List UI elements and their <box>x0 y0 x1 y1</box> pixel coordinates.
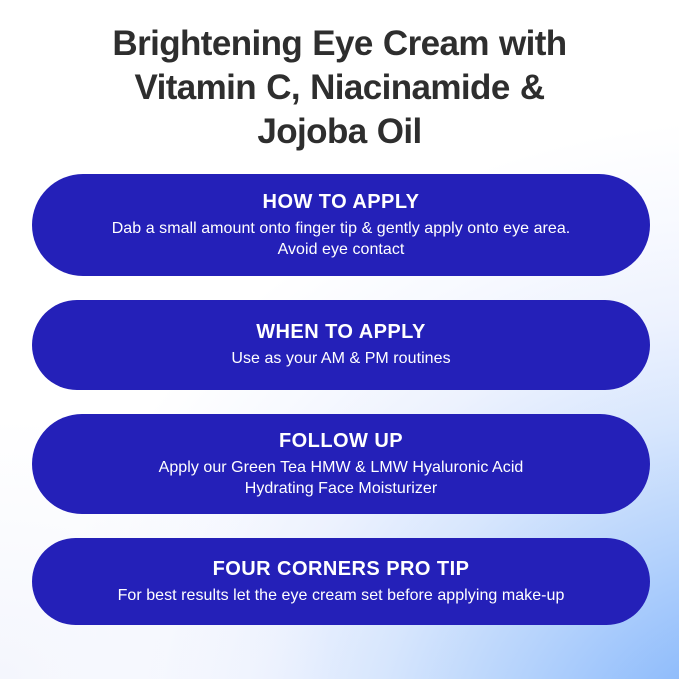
section-body-line: Hydrating Face Moisturizer <box>245 480 437 497</box>
section-pill-follow-up: FOLLOW UP Apply our Green Tea HMW & LMW … <box>32 414 650 514</box>
section-pill-four-corners-pro-tip: FOUR CORNERS PRO TIP For best results le… <box>32 538 650 625</box>
page-title-line-3: Jojoba Oil <box>257 112 421 151</box>
page-title: Brightening Eye Cream with Vitamin C, Ni… <box>46 22 633 154</box>
page-title-line-2: Vitamin C, Niacinamide & <box>134 68 544 107</box>
section-body-how-to-apply: Dab a small amount onto finger tip & gen… <box>112 218 571 261</box>
section-pill-when-to-apply: WHEN TO APPLY Use as your AM & PM routin… <box>32 300 650 390</box>
section-heading-four-corners-pro-tip: FOUR CORNERS PRO TIP <box>213 557 470 582</box>
section-body-four-corners-pro-tip: For best results let the eye cream set b… <box>118 585 565 606</box>
section-body-line: For best results let the eye cream set b… <box>118 587 565 604</box>
section-body-when-to-apply: Use as your AM & PM routines <box>231 348 450 369</box>
section-heading-when-to-apply: WHEN TO APPLY <box>256 320 426 345</box>
section-pill-how-to-apply: HOW TO APPLY Dab a small amount onto fin… <box>32 174 650 276</box>
title-block: Brightening Eye Cream with Vitamin C, Ni… <box>0 22 679 154</box>
section-body-follow-up: Apply our Green Tea HMW & LMW Hyaluronic… <box>159 457 524 500</box>
section-heading-follow-up: FOLLOW UP <box>279 429 403 454</box>
section-heading-how-to-apply: HOW TO APPLY <box>263 190 420 215</box>
infographic-canvas: Brightening Eye Cream with Vitamin C, Ni… <box>0 0 679 679</box>
section-body-line: Avoid eye contact <box>278 241 405 258</box>
section-body-line: Dab a small amount onto finger tip & gen… <box>112 220 571 237</box>
page-title-line-1: Brightening Eye Cream with <box>112 24 566 63</box>
section-body-line: Apply our Green Tea HMW & LMW Hyaluronic… <box>159 459 524 476</box>
section-body-line: Use as your AM & PM routines <box>231 350 450 367</box>
infographic-content: Brightening Eye Cream with Vitamin C, Ni… <box>0 0 679 679</box>
